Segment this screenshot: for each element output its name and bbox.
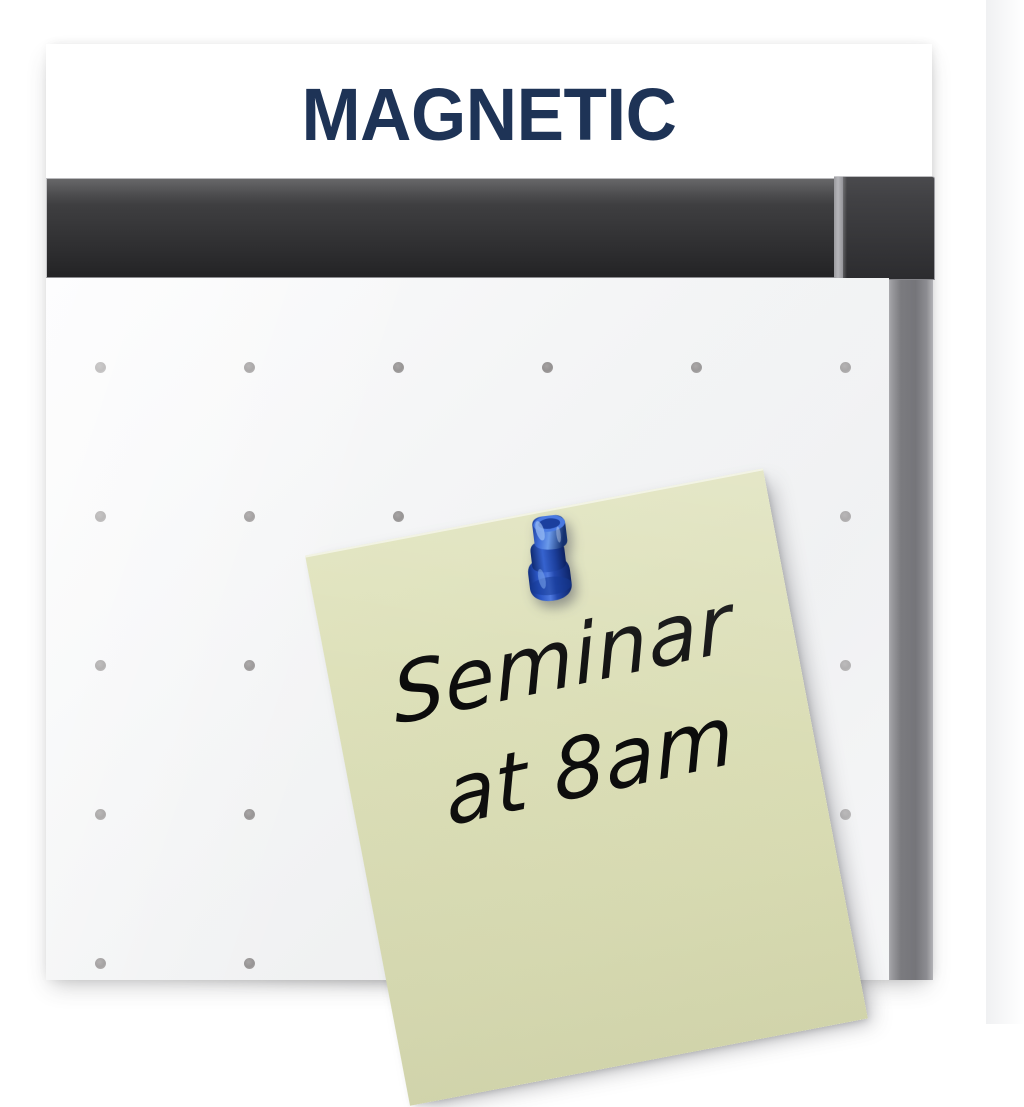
blue-push-pin-magnet-icon[interactable]	[512, 509, 579, 607]
corner-cap	[843, 176, 935, 280]
photo-edge-gloss	[986, 0, 1024, 1024]
product-photo-stage: MAGNETIC Seminar at 8am	[0, 0, 1024, 1024]
frame-rail-right	[887, 280, 933, 980]
grid-dot	[244, 809, 255, 820]
grid-dot	[95, 958, 106, 969]
grid-dot	[393, 362, 404, 373]
grid-dot	[840, 362, 851, 373]
grid-dot	[95, 809, 106, 820]
grid-dot	[393, 511, 404, 522]
grid-dot	[691, 362, 702, 373]
page-title: MAGNETIC	[64, 78, 915, 152]
black-trim-bar	[46, 178, 835, 278]
grid-dot	[840, 511, 851, 522]
grid-dot	[95, 362, 106, 373]
grid-dot	[244, 660, 255, 671]
grid-dot	[542, 362, 553, 373]
board-header-band: MAGNETIC	[46, 44, 932, 178]
sticky-note-text: Seminar at 8am	[323, 563, 822, 866]
grid-dot	[95, 511, 106, 522]
grid-dot	[244, 362, 255, 373]
grid-dot	[95, 660, 106, 671]
grid-dot	[244, 958, 255, 969]
grid-dot	[840, 660, 851, 671]
grid-dot	[244, 511, 255, 522]
sticky-note[interactable]: Seminar at 8am	[305, 468, 868, 1105]
magnetic-whiteboard: MAGNETIC Seminar at 8am	[46, 44, 932, 980]
grid-dot	[840, 809, 851, 820]
